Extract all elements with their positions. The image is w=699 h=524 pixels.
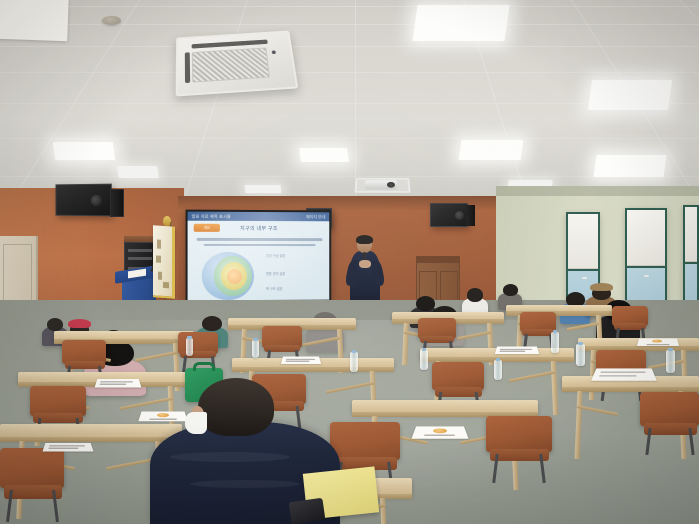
- chair-backrest: [0, 448, 64, 488]
- projector-lens-icon: [387, 182, 395, 188]
- ceiling-grid-line: [0, 138, 699, 139]
- handout-text-line: [100, 384, 127, 385]
- padded-stacking-chair[interactable]: [62, 340, 106, 364]
- wall-speaker-right-side: [466, 205, 475, 226]
- lecture-hall-photograph: 발표 자료 제목 표시줄 페이지 안내 개요 지구의 내부 구조 지각 구성 설…: [0, 0, 699, 524]
- table-brace: [577, 405, 618, 416]
- chair-backrest: [30, 386, 86, 416]
- chair-backrest: [330, 422, 400, 460]
- foreground-head: [198, 378, 274, 436]
- table-leg: [551, 361, 558, 415]
- projector-mount: [354, 178, 411, 195]
- ceiling-grid-line: [0, 72, 699, 73]
- right-wall-trim: [496, 186, 699, 196]
- handout-emblem-icon: [652, 340, 662, 343]
- ceremonial-flag: [153, 225, 175, 299]
- ceiling-light-panel-3: [299, 148, 349, 162]
- water-bottle: [666, 350, 675, 373]
- padded-stacking-chair[interactable]: [178, 332, 218, 354]
- water-bottle: [186, 338, 193, 356]
- attendee-head: [202, 316, 222, 331]
- handout-sheet: [95, 379, 142, 388]
- handout-sheet: [495, 346, 539, 353]
- screen-glare: [188, 212, 330, 301]
- ceiling-light-panel-5: [588, 80, 672, 110]
- hat-icon: [68, 319, 91, 328]
- wall-speaker-left: [56, 184, 112, 217]
- chair-backrest: [432, 362, 484, 390]
- ceiling-light-panel-8: [244, 185, 281, 193]
- ac-grille: [192, 47, 270, 82]
- bottle-cap-icon: [668, 348, 673, 351]
- padded-stacking-chair[interactable]: [30, 386, 86, 416]
- speaker-cone-icon: [91, 195, 102, 206]
- table-brace: [567, 322, 599, 331]
- handout-text-line: [601, 372, 646, 373]
- table-leg: [380, 498, 387, 524]
- bottle-cap-icon: [352, 350, 357, 353]
- table-brace: [457, 331, 491, 340]
- bottle-cap-icon: [422, 348, 427, 351]
- roller-blind[interactable]: [627, 210, 665, 266]
- chair-backrest: [486, 416, 552, 452]
- presenter-speaker: [345, 236, 385, 308]
- padded-stacking-chair[interactable]: [486, 416, 552, 452]
- water-bottle: [350, 352, 358, 372]
- handout-sheet: [412, 426, 469, 438]
- handout-text-line: [49, 445, 85, 446]
- paper-sheet: [0, 0, 69, 41]
- bottle-cap-icon: [578, 342, 583, 345]
- ac-sensor-icon: [272, 50, 276, 54]
- ceiling-grid-line: [679, 0, 699, 215]
- padded-stacking-chair[interactable]: [432, 362, 484, 390]
- ceiling-light-panel-7: [593, 155, 666, 177]
- handout-text-line: [647, 344, 670, 345]
- handout-text-line: [286, 361, 310, 362]
- bottle-cap-icon: [496, 358, 501, 361]
- water-bottle: [420, 350, 428, 370]
- handout-text-line: [599, 375, 636, 376]
- attendee-head: [47, 318, 63, 331]
- ceiling-light-panel-1: [53, 142, 116, 160]
- ac-vent: [185, 52, 190, 83]
- attendee-head: [467, 288, 483, 302]
- water-bottle: [551, 332, 559, 353]
- roller-blind[interactable]: [568, 214, 598, 269]
- handout-text-line: [49, 448, 79, 449]
- roller-blind[interactable]: [685, 207, 697, 262]
- handout-text-line: [500, 351, 526, 352]
- projection-screen-surface: 발표 자료 제목 표시줄 페이지 안내 개요 지구의 내부 구조 지각 구성 설…: [188, 212, 330, 301]
- table-leg: [575, 391, 583, 459]
- presenter-hands: [359, 260, 371, 268]
- table-brace: [135, 351, 177, 362]
- window-glass: [627, 210, 665, 306]
- presenter-hair: [356, 235, 373, 244]
- wall-speaker-left-side: [110, 189, 124, 217]
- air-conditioner-cassette-icon: [176, 31, 299, 97]
- window-glass: [685, 207, 697, 307]
- ceiling-light-panel-2: [117, 166, 159, 178]
- table-brace: [509, 371, 555, 383]
- handout-sheet: [281, 356, 321, 363]
- water-bottle: [494, 360, 502, 380]
- table-brace: [302, 336, 340, 346]
- padded-stacking-chair[interactable]: [330, 422, 400, 460]
- bottle-cap-icon: [187, 336, 191, 339]
- smartphone-icon: [289, 498, 326, 524]
- padded-stacking-chair[interactable]: [418, 318, 456, 339]
- table-leg: [402, 323, 409, 365]
- handout-sheet: [42, 443, 93, 452]
- padded-stacking-chair[interactable]: [612, 306, 648, 326]
- face-mask-icon: [185, 412, 207, 434]
- handout-text-line: [500, 349, 532, 350]
- chair-backrest: [640, 392, 699, 426]
- water-bottle: [252, 340, 259, 358]
- padded-stacking-chair[interactable]: [0, 448, 64, 488]
- attendee-head: [503, 284, 518, 296]
- handout-text-line: [286, 359, 315, 360]
- ceiling-grid-line: [0, 24, 699, 25]
- ceiling-grid-line: [0, 6, 699, 7]
- handout-text-line: [100, 381, 133, 382]
- handout-sheet: [591, 368, 657, 380]
- ceiling-light-panel-6: [459, 140, 524, 160]
- hat-icon: [590, 283, 613, 291]
- ceiling-grid-line: [150, 0, 248, 215]
- ceiling-light-panel-4: [412, 5, 509, 41]
- bottle-cap-icon: [553, 330, 558, 333]
- padded-stacking-chair[interactable]: [520, 312, 556, 332]
- smoke-detector-icon: [102, 16, 121, 25]
- water-bottle: [576, 344, 585, 366]
- projection-screen: 발표 자료 제목 표시줄 페이지 안내 개요 지구의 내부 구조 지각 구성 설…: [186, 210, 332, 303]
- padded-stacking-chair[interactable]: [640, 392, 699, 426]
- handout-emblem-icon: [433, 428, 447, 433]
- bag-strap: [193, 362, 215, 371]
- wall-speaker-right: [430, 203, 468, 227]
- padded-stacking-chair[interactable]: [262, 326, 302, 348]
- window-right-3: [683, 205, 699, 309]
- bottle-cap-icon: [253, 338, 257, 341]
- window-right-2: [625, 208, 667, 308]
- speaker-cone-icon: [455, 211, 464, 220]
- ceiling-grid-line: [0, 46, 699, 47]
- handout-text-line: [424, 435, 454, 436]
